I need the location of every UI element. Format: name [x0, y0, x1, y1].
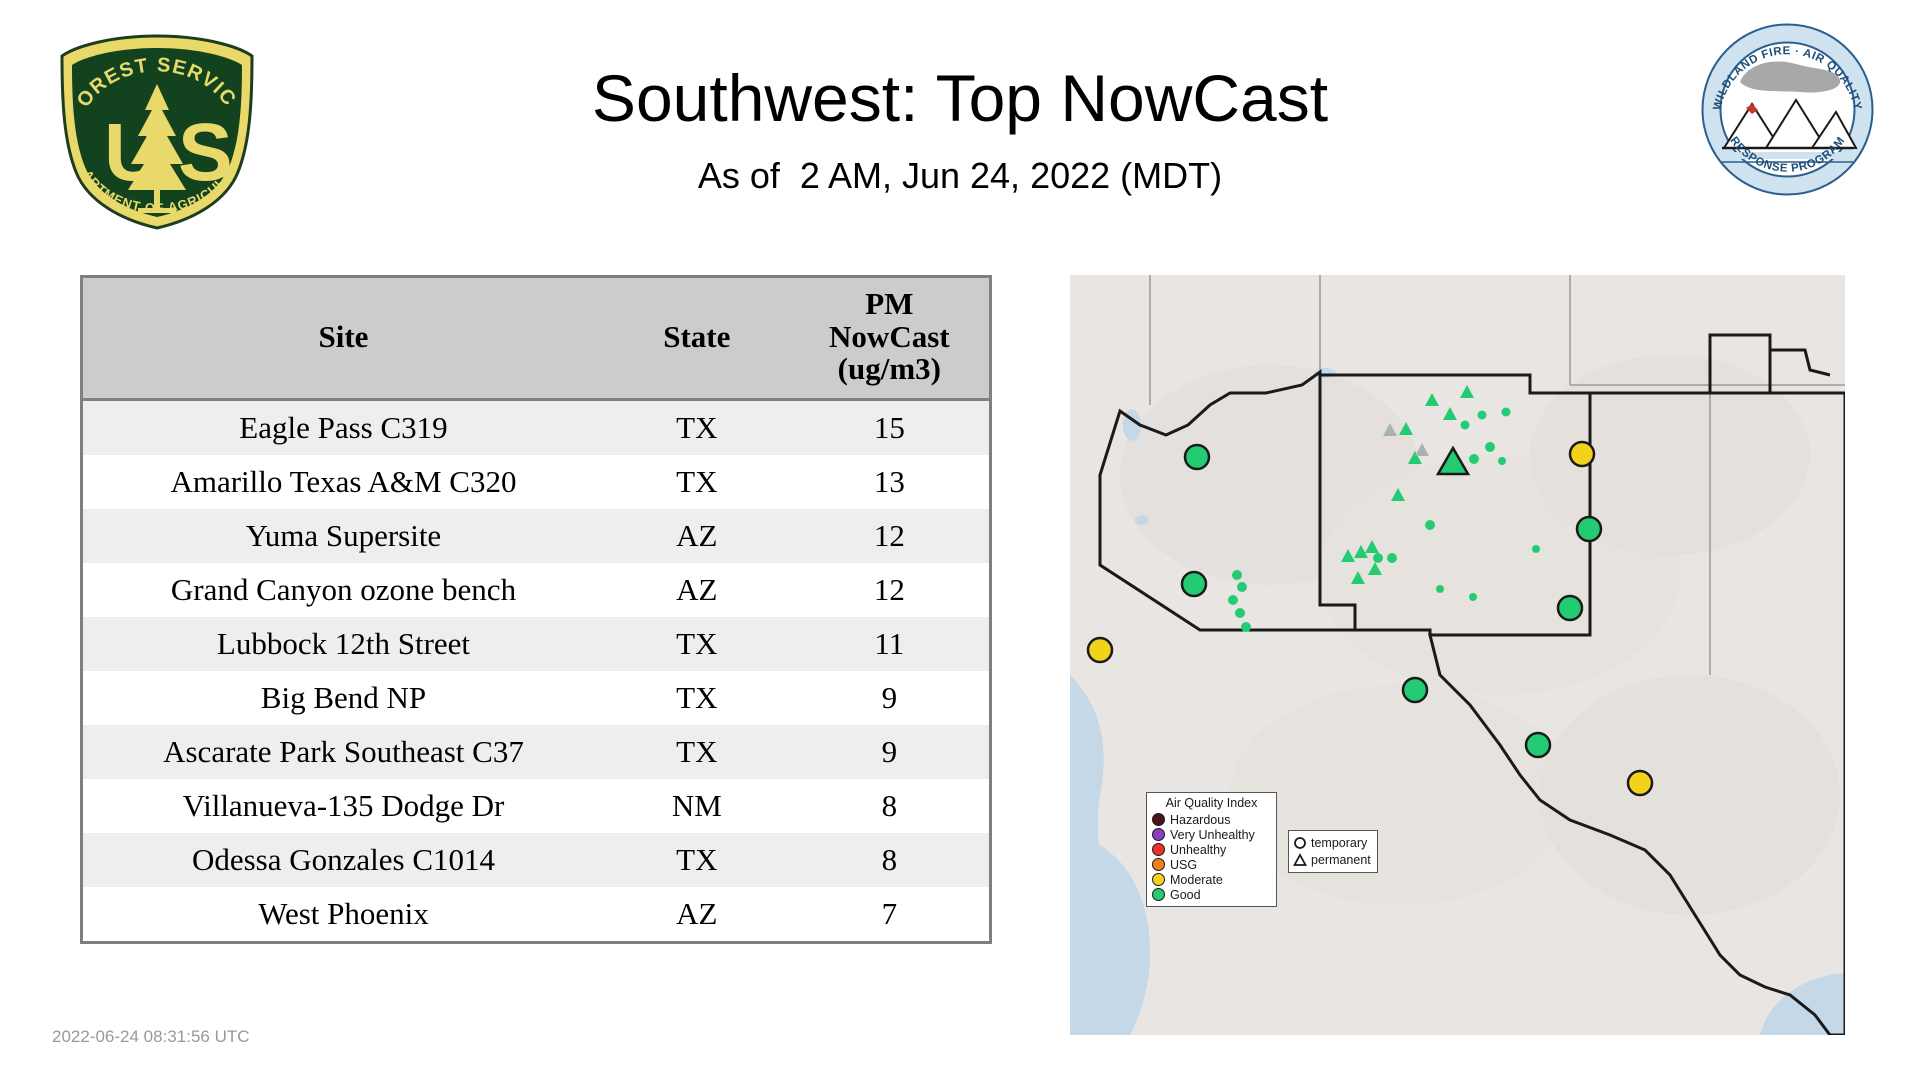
site-cell: Villanueva-135 Dodge Dr [83, 779, 604, 833]
aqi-legend-label: Hazardous [1170, 813, 1230, 827]
aqi-legend-row: Unhealthy [1152, 842, 1271, 857]
state-cell: TX [604, 833, 790, 887]
table-row: Ascarate Park Southeast C37TX9 [83, 725, 989, 779]
aqi-legend-label: Moderate [1170, 873, 1223, 887]
page-title: Southwest: Top NowCast [0, 60, 1920, 136]
site-marker-lubbock [1577, 517, 1601, 541]
pm-cell: 12 [790, 509, 989, 563]
table-row: Amarillo Texas A&M C320TX13 [83, 455, 989, 509]
air-quality-map[interactable]: Air Quality Index HazardousVery Unhealth… [1070, 275, 1845, 1035]
aqi-color-swatch [1152, 813, 1165, 826]
aqi-legend-label: Good [1170, 888, 1201, 902]
state-cell: AZ [604, 509, 790, 563]
aqi-color-swatch [1152, 828, 1165, 841]
site-marker-amarillo [1570, 442, 1594, 466]
table-row: Lubbock 12th StreetTX11 [83, 617, 989, 671]
site-type-legend: temporary permanent [1288, 830, 1378, 873]
pm-cell: 15 [790, 399, 989, 455]
legend-label-temporary: temporary [1311, 836, 1367, 850]
nowcast-table: Site State PM NowCast (ug/m3) Eagle Pass… [83, 278, 989, 941]
aqi-legend-row: Hazardous [1152, 812, 1271, 827]
pm-cell: 12 [790, 563, 989, 617]
aqi-color-swatch [1152, 843, 1165, 856]
table-row: Eagle Pass C319TX15 [83, 399, 989, 455]
pm-cell: 8 [790, 833, 989, 887]
legend-row-temporary: temporary [1293, 834, 1373, 851]
lake-havasu [1135, 515, 1149, 525]
site-cell: Amarillo Texas A&M C320 [83, 455, 604, 509]
aqi-legend-row: Very Unhealthy [1152, 827, 1271, 842]
site-marker-eagle-pass [1628, 771, 1652, 795]
site-cell: Ascarate Park Southeast C37 [83, 725, 604, 779]
aqi-legend-label: Very Unhealthy [1170, 828, 1255, 842]
aqi-color-swatch [1152, 888, 1165, 901]
triangle-outline-icon [1293, 853, 1307, 867]
nowcast-table-panel: Site State PM NowCast (ug/m3) Eagle Pass… [80, 275, 992, 944]
state-cell: TX [604, 725, 790, 779]
table-row: Yuma SupersiteAZ12 [83, 509, 989, 563]
column-header-pm-line3: (ug/m3) [794, 353, 985, 386]
site-marker-yuma-supersite [1088, 638, 1112, 662]
pm-cell: 7 [790, 887, 989, 941]
state-cell: TX [604, 455, 790, 509]
table-row: Villanueva-135 Dodge DrNM8 [83, 779, 989, 833]
aqi-legend: Air Quality Index HazardousVery Unhealth… [1146, 792, 1277, 907]
column-header-pm-line2: NowCast [794, 321, 985, 354]
pm-cell: 8 [790, 779, 989, 833]
aqi-color-swatch [1152, 873, 1165, 886]
column-header-site: Site [83, 278, 604, 399]
column-header-state: State [604, 278, 790, 399]
aqi-legend-title: Air Quality Index [1152, 796, 1271, 810]
circle-outline-icon [1293, 836, 1307, 850]
legend-row-permanent: permanent [1293, 851, 1373, 868]
site-marker-big-bend [1526, 733, 1550, 757]
table-body: Eagle Pass C319TX15Amarillo Texas A&M C3… [83, 399, 989, 941]
legend-label-permanent: permanent [1311, 853, 1371, 867]
table-row: West PhoenixAZ7 [83, 887, 989, 941]
column-header-pm-line1: PM [794, 288, 985, 321]
pm-cell: 11 [790, 617, 989, 671]
generated-timestamp: 2022-06-24 08:31:56 UTC [52, 1027, 250, 1047]
site-marker-odessa [1558, 596, 1582, 620]
table-header-row: Site State PM NowCast (ug/m3) [83, 278, 989, 399]
state-cell: AZ [604, 887, 790, 941]
state-cell: TX [604, 399, 790, 455]
aqi-legend-label: USG [1170, 858, 1197, 872]
aqi-legend-label: Unhealthy [1170, 843, 1226, 857]
aqi-legend-row: Good [1152, 887, 1271, 902]
site-cell: Odessa Gonzales C1014 [83, 833, 604, 887]
table-row: Big Bend NPTX9 [83, 671, 989, 725]
table-row: Odessa Gonzales C1014TX8 [83, 833, 989, 887]
site-cell: Yuma Supersite [83, 509, 604, 563]
column-header-pm-nowcast: PM NowCast (ug/m3) [790, 278, 989, 399]
site-marker-grand-canyon [1185, 445, 1209, 469]
site-cell: Lubbock 12th Street [83, 617, 604, 671]
aqi-legend-row: USG [1152, 857, 1271, 872]
page-subtitle: As of 2 AM, Jun 24, 2022 (MDT) [0, 155, 1920, 197]
site-cell: Eagle Pass C319 [83, 399, 604, 455]
site-cell: West Phoenix [83, 887, 604, 941]
pm-cell: 13 [790, 455, 989, 509]
site-marker-west-phoenix [1182, 572, 1206, 596]
table-row: Grand Canyon ozone benchAZ12 [83, 563, 989, 617]
site-marker-ascarate-park [1403, 678, 1427, 702]
site-cell: Big Bend NP [83, 671, 604, 725]
state-cell: NM [604, 779, 790, 833]
aqi-legend-row: Moderate [1152, 872, 1271, 887]
state-cell: TX [604, 671, 790, 725]
aqi-color-swatch [1152, 858, 1165, 871]
site-cell: Grand Canyon ozone bench [83, 563, 604, 617]
state-cell: TX [604, 617, 790, 671]
pm-cell: 9 [790, 725, 989, 779]
state-cell: AZ [604, 563, 790, 617]
pm-cell: 9 [790, 671, 989, 725]
